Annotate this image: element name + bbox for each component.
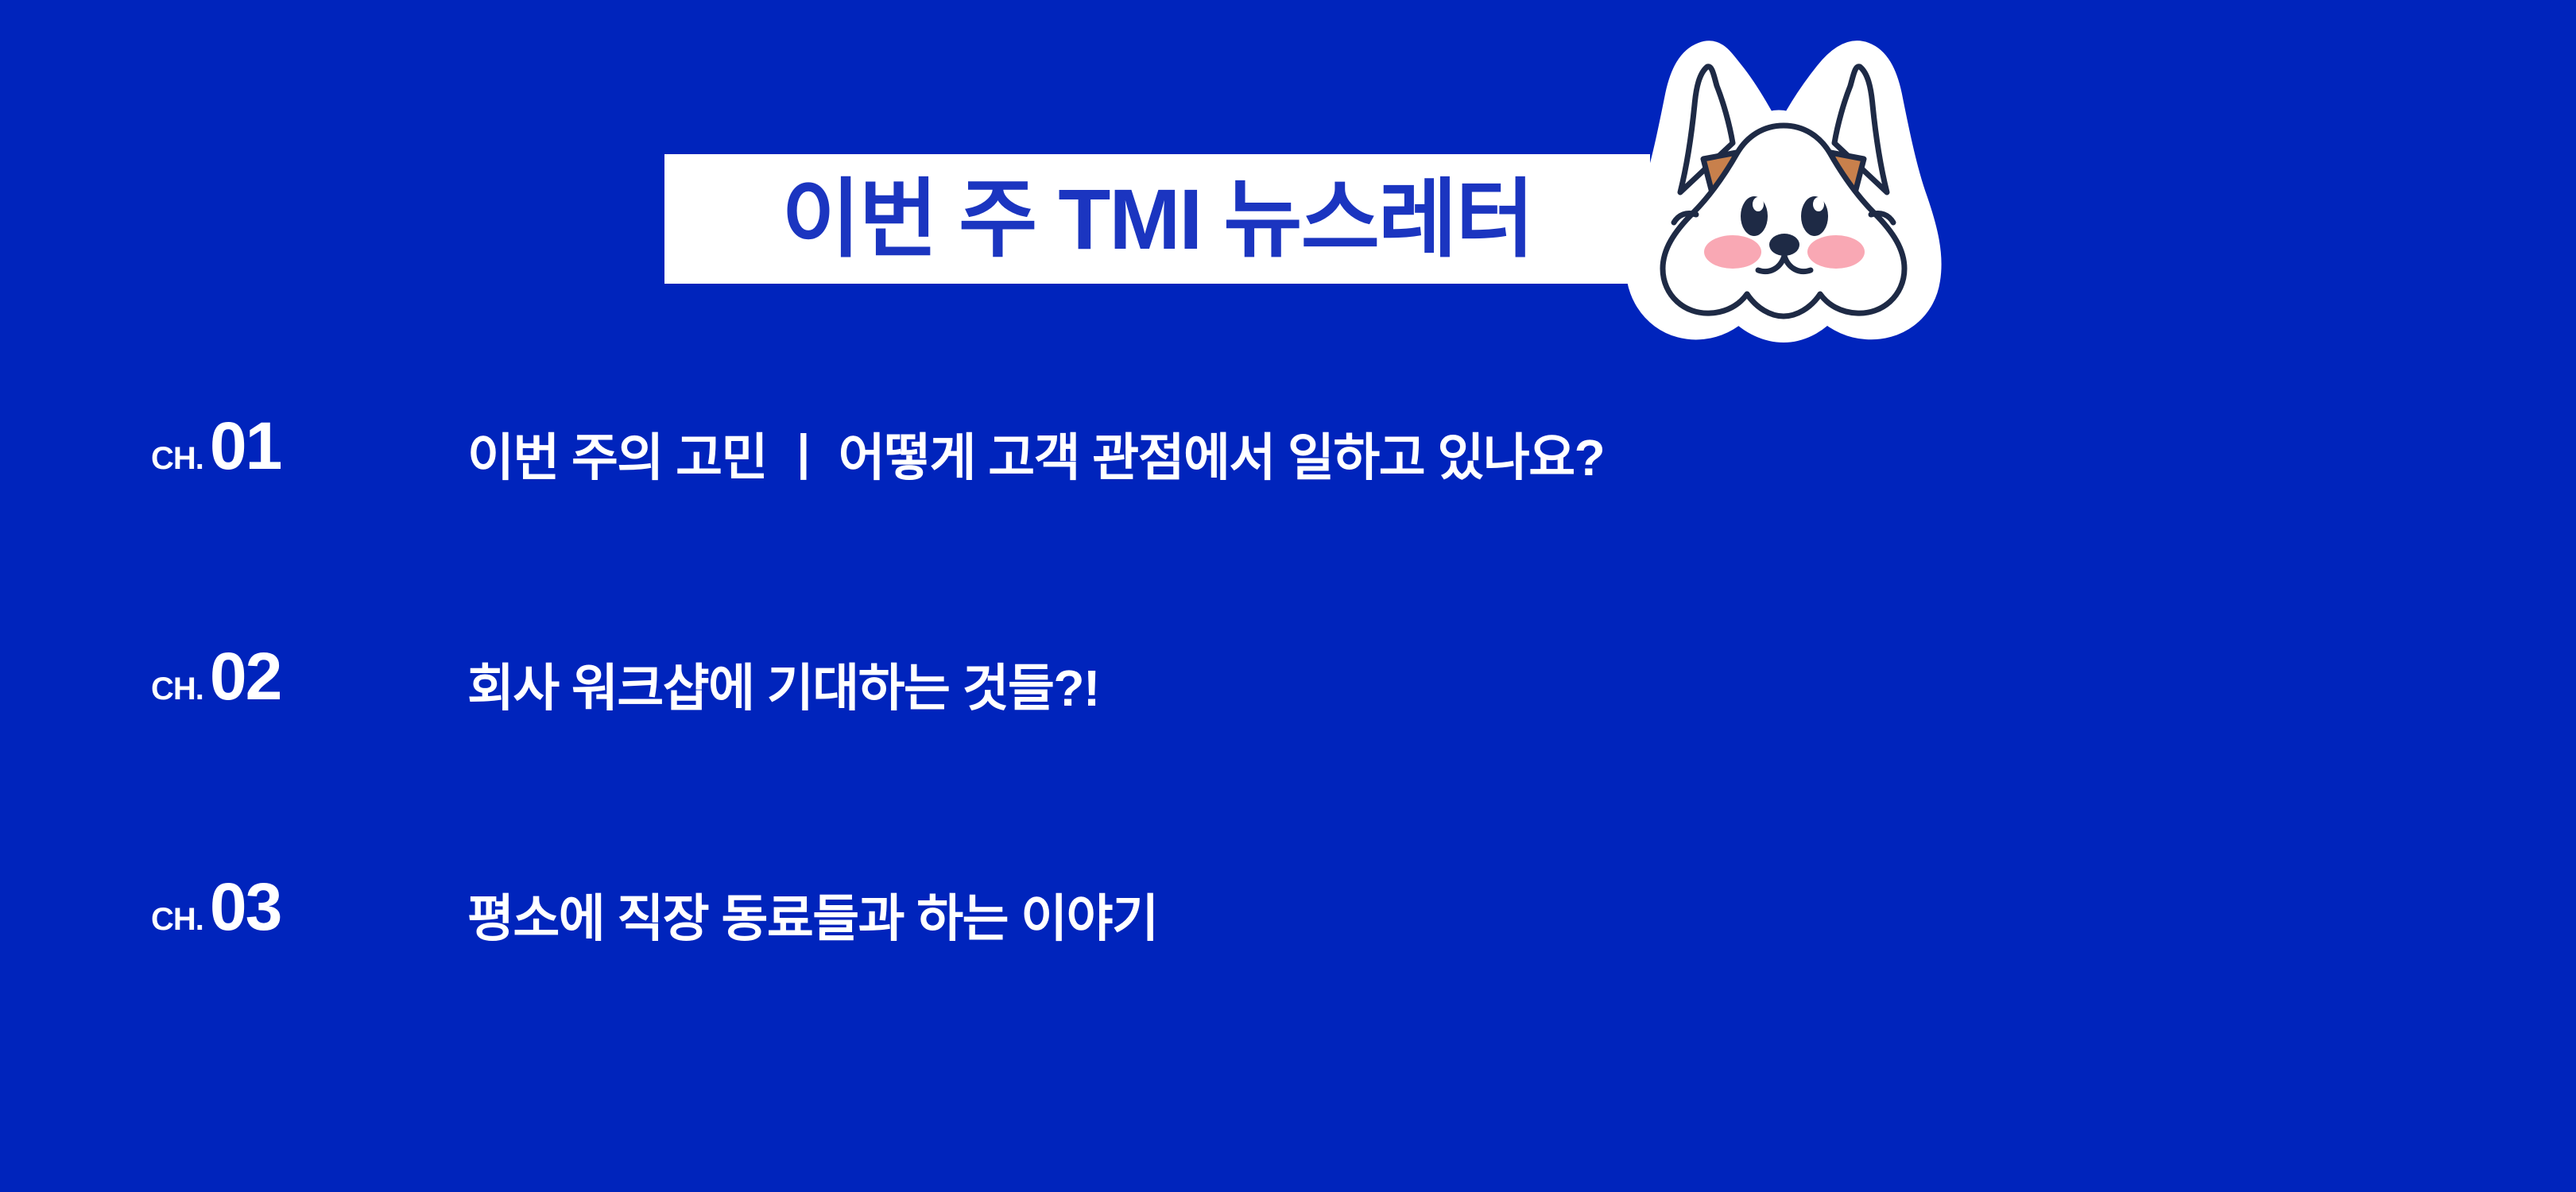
white-cat-mascot-icon — [1613, 32, 1947, 350]
page-title: 이번 주 TMI 뉴스레터 — [781, 176, 1532, 262]
chapter-marker: CH. 02 — [151, 638, 281, 715]
chapter-row[interactable]: CH. 03 평소에 직장 동료들과 하는 이야기 — [0, 850, 2576, 1081]
chapter-row[interactable]: CH. 02 회사 워크샵에 기대하는 것들?! — [0, 620, 2576, 850]
chapter-number: 02 — [210, 638, 281, 715]
chapter-marker: CH. 03 — [151, 869, 281, 946]
chapter-title: 회사 워크샵에 기대하는 것들?! — [467, 663, 1099, 714]
chapter-list: CH. 01 이번 주의 고민 ㅣ 어떻게 고객 관점에서 일하고 있나요? C… — [0, 389, 2576, 1081]
chapter-label: CH. — [151, 902, 203, 938]
chapter-number: 01 — [210, 408, 281, 485]
chapter-number: 03 — [210, 869, 281, 946]
chapter-marker: CH. 01 — [151, 408, 281, 485]
newsletter-header: 이번 주 TMI 뉴스레터 — [0, 0, 2576, 373]
chapter-row[interactable]: CH. 01 이번 주의 고민 ㅣ 어떻게 고객 관점에서 일하고 있나요? — [0, 389, 2576, 620]
chapter-label: CH. — [151, 671, 203, 707]
chapter-title: 평소에 직장 동료들과 하는 이야기 — [467, 893, 1157, 944]
chapter-label: CH. — [151, 441, 203, 477]
title-banner: 이번 주 TMI 뉴스레터 — [664, 154, 1650, 284]
chapter-title: 이번 주의 고민 ㅣ 어떻게 고객 관점에서 일하고 있나요? — [467, 432, 1604, 483]
